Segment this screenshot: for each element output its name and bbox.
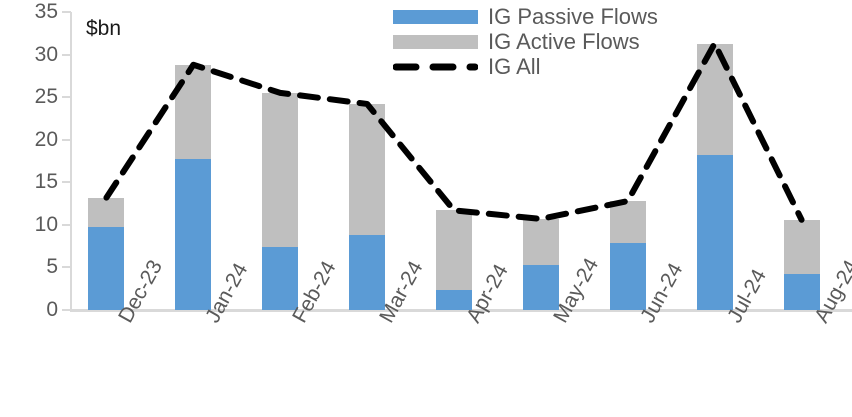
legend-swatch-icon — [393, 10, 478, 24]
x-axis-labels: Dec-23Jan-24Feb-24Mar-24Apr-24May-24Jun-… — [70, 312, 852, 417]
y-axis-tick-label-text: 5 — [14, 256, 58, 277]
legend-swatch-icon — [393, 35, 478, 49]
legend-label: IG Active Flows — [488, 31, 640, 53]
y-axis-tick-label-text: 0 — [14, 299, 58, 320]
y-axis-tick-label-text: 30 — [14, 44, 58, 65]
legend-label: IG All — [488, 56, 541, 78]
y-axis-tick-label-text: 10 — [14, 214, 58, 235]
y-axis-tick-label-text: 20 — [14, 129, 58, 150]
legend-dashed-line-icon — [393, 60, 478, 74]
legend-item[interactable]: IG Passive Flows — [393, 4, 653, 29]
y-axis-tick-label-text: 15 — [14, 171, 58, 192]
legend-item[interactable]: IG All — [393, 54, 653, 79]
legend-label: IG Passive Flows — [488, 6, 658, 28]
chart-legend: IG Passive FlowsIG Active FlowsIG All — [393, 4, 653, 79]
y-axis-tick-label-text: 25 — [14, 86, 58, 107]
legend-item[interactable]: IG Active Flows — [393, 29, 653, 54]
chart-container: 05101520253035 $bn Dec-23Jan-24Feb-24Mar… — [0, 0, 852, 417]
y-axis-tick-label-text: 35 — [14, 1, 58, 22]
